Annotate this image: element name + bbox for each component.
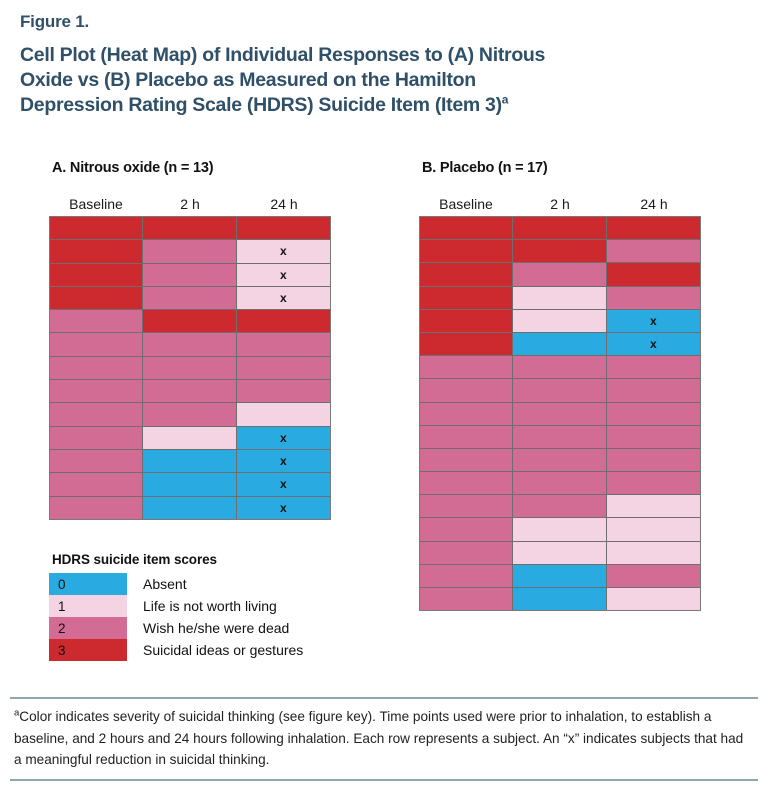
reduction-marker-x: x	[650, 337, 657, 351]
heatmap-cell	[513, 240, 606, 262]
heatmap-cell: x	[607, 310, 700, 332]
column-header-2h: 2 h	[143, 196, 237, 216]
heatmap-cell	[237, 403, 330, 425]
heatmap-cell	[607, 240, 700, 262]
column-header-2h: 2 h	[513, 196, 607, 216]
heatmap-cell	[513, 449, 606, 471]
heatmap-cell	[420, 240, 513, 262]
heatmap-cell	[143, 450, 236, 472]
legend-label: Life is not worth living	[127, 595, 277, 617]
panel-b-column-headers: Baseline 2 h 24 h	[419, 196, 701, 216]
heatmap-cell	[143, 380, 236, 402]
heatmap-cell: x	[237, 497, 330, 519]
heatmap-cell	[143, 357, 236, 379]
heatmap-cell	[607, 426, 700, 448]
heatmap-cell	[420, 449, 513, 471]
heatmap-row	[420, 240, 700, 263]
reduction-marker-x: x	[280, 431, 287, 445]
heatmap-row	[50, 310, 330, 333]
heatmap-cell	[143, 310, 236, 332]
heatmap-cell	[607, 356, 700, 378]
heatmap-grid-placebo: xx	[419, 216, 701, 611]
heatmap-cell	[513, 287, 606, 309]
legend-swatch: 1	[49, 595, 127, 617]
heatmap-cell	[420, 403, 513, 425]
heatmap-row: x	[50, 497, 330, 519]
heatmap-cell	[420, 426, 513, 448]
heatmap-cell	[607, 217, 700, 239]
heatmap-cell	[50, 217, 143, 239]
panel-nitrous-oxide: A. Nitrous oxide (n = 13) Baseline 2 h 2…	[49, 160, 331, 520]
heatmap-cell: x	[237, 264, 330, 286]
heatmap-row	[420, 287, 700, 310]
column-header-24h: 24 h	[607, 196, 701, 216]
heatmap-cell	[143, 427, 236, 449]
heatmap-cell	[607, 472, 700, 494]
heatmap-cell	[237, 357, 330, 379]
figure-title: Cell Plot (Heat Map) of Individual Respo…	[20, 43, 740, 118]
heatmap-cell	[607, 565, 700, 587]
heatmap-cell	[237, 310, 330, 332]
reduction-marker-x: x	[280, 291, 287, 305]
figure-title-line-2: Oxide vs (B) Placebo as Measured on the …	[20, 69, 476, 91]
heatmap-row: x	[50, 264, 330, 287]
legend-item: 0Absent	[49, 573, 349, 595]
heatmap-cell	[607, 403, 700, 425]
heatmap-cell	[513, 217, 606, 239]
heatmap-cell	[143, 264, 236, 286]
heatmap-cell	[420, 565, 513, 587]
legend-item: 1Life is not worth living	[49, 595, 349, 617]
heatmap-row: x	[50, 473, 330, 496]
heatmap-row: x	[50, 427, 330, 450]
footnote-divider-top	[10, 697, 758, 699]
heatmap-cell	[50, 450, 143, 472]
heatmap-cell	[143, 217, 236, 239]
heatmap-row	[420, 472, 700, 495]
legend-item: 2Wish he/she were dead	[49, 617, 349, 639]
heatmap-row	[420, 217, 700, 240]
legend-swatch: 0	[49, 573, 127, 595]
heatmap-cell	[420, 263, 513, 285]
figure-title-line-1: Cell Plot (Heat Map) of Individual Respo…	[20, 44, 545, 66]
column-header-baseline: Baseline	[49, 196, 143, 216]
heatmap-row	[420, 495, 700, 518]
legend-label: Absent	[127, 573, 187, 595]
heatmap-row	[50, 217, 330, 240]
heatmap-cell	[420, 217, 513, 239]
legend-title: HDRS suicide item scores	[52, 552, 349, 567]
heatmap-cell	[50, 403, 143, 425]
figure-label: Figure 1.	[20, 12, 89, 32]
heatmap-cell: x	[237, 427, 330, 449]
heatmap-row	[50, 333, 330, 356]
heatmap-cell	[50, 357, 143, 379]
reduction-marker-x: x	[280, 454, 287, 468]
heatmap-grid-nitrous-oxide: xxxxxxx	[49, 216, 331, 520]
legend-label: Wish he/she were dead	[127, 617, 289, 639]
heatmap-row	[420, 565, 700, 588]
heatmap-cell	[50, 264, 143, 286]
heatmap-cell	[513, 588, 606, 610]
panel-a-title: A. Nitrous oxide (n = 13)	[52, 160, 331, 176]
column-header-baseline: Baseline	[419, 196, 513, 216]
heatmap-row	[420, 403, 700, 426]
heatmap-row	[420, 356, 700, 379]
heatmap-row	[50, 403, 330, 426]
heatmap-cell	[607, 379, 700, 401]
reduction-marker-x: x	[280, 268, 287, 282]
footnote-divider-bottom	[10, 779, 758, 781]
heatmap-row	[420, 518, 700, 541]
heatmap-cell: x	[237, 450, 330, 472]
heatmap-cell	[420, 472, 513, 494]
footnote: aColor indicates severity of suicidal th…	[14, 706, 754, 771]
heatmap-row: x	[50, 287, 330, 310]
legend-swatch: 2	[49, 617, 127, 639]
heatmap-cell	[143, 403, 236, 425]
heatmap-cell	[513, 426, 606, 448]
heatmap-cell	[237, 333, 330, 355]
heatmap-cell	[513, 542, 606, 564]
reduction-marker-x: x	[280, 244, 287, 258]
heatmap-row	[50, 357, 330, 380]
heatmap-cell	[607, 588, 700, 610]
heatmap-cell: x	[607, 333, 700, 355]
heatmap-row	[420, 588, 700, 610]
heatmap-cell	[513, 472, 606, 494]
heatmap-cell	[143, 287, 236, 309]
heatmap-cell	[513, 518, 606, 540]
heatmap-cell	[513, 263, 606, 285]
heatmap-cell	[513, 333, 606, 355]
heatmap-cell	[420, 356, 513, 378]
heatmap-row: x	[50, 450, 330, 473]
reduction-marker-x: x	[650, 314, 657, 328]
heatmap-cell	[513, 403, 606, 425]
legend-swatch: 3	[49, 639, 127, 661]
heatmap-cell	[420, 333, 513, 355]
heatmap-cell	[237, 380, 330, 402]
panel-b-title: B. Placebo (n = 17)	[422, 160, 701, 176]
panel-placebo: B. Placebo (n = 17) Baseline 2 h 24 h xx	[419, 160, 701, 611]
heatmap-row	[420, 542, 700, 565]
heatmap-cell	[143, 240, 236, 262]
figure-title-footnote-marker: a	[502, 93, 508, 107]
heatmap-cell	[50, 310, 143, 332]
heatmap-cell: x	[237, 473, 330, 495]
legend-label: Suicidal ideas or gestures	[127, 639, 303, 661]
heatmap-row: x	[420, 333, 700, 356]
heatmap-cell	[50, 287, 143, 309]
heatmap-cell	[607, 287, 700, 309]
heatmap-row: x	[420, 310, 700, 333]
heatmap-cell	[607, 449, 700, 471]
heatmap-cell	[513, 356, 606, 378]
reduction-marker-x: x	[280, 477, 287, 491]
heatmap-cell	[420, 287, 513, 309]
heatmap-cell	[420, 588, 513, 610]
panel-a-column-headers: Baseline 2 h 24 h	[49, 196, 331, 216]
heatmap-cell	[50, 380, 143, 402]
heatmap-cell	[513, 379, 606, 401]
legend-rows: 0Absent1Life is not worth living2Wish he…	[49, 573, 349, 661]
heatmap-cell	[607, 542, 700, 564]
heatmap-cell	[50, 497, 143, 519]
heatmap-cell	[420, 542, 513, 564]
heatmap-row: x	[50, 240, 330, 263]
heatmap-row	[420, 449, 700, 472]
heatmap-row	[420, 379, 700, 402]
heatmap-cell	[50, 427, 143, 449]
heatmap-cell	[513, 310, 606, 332]
footnote-text: Color indicates severity of suicidal thi…	[14, 709, 743, 767]
heatmap-cell	[50, 473, 143, 495]
heatmap-cell: x	[237, 287, 330, 309]
heatmap-cell	[420, 495, 513, 517]
heatmap-cell	[143, 497, 236, 519]
heatmap-row	[420, 263, 700, 286]
heatmap-cell	[143, 333, 236, 355]
heatmap-cell	[513, 495, 606, 517]
reduction-marker-x: x	[280, 501, 287, 515]
heatmap-row	[50, 380, 330, 403]
column-header-24h: 24 h	[237, 196, 331, 216]
legend: HDRS suicide item scores 0Absent1Life is…	[49, 552, 349, 661]
heatmap-cell	[50, 240, 143, 262]
heatmap-cell	[50, 333, 143, 355]
heatmap-cell	[420, 518, 513, 540]
heatmap-cell	[513, 565, 606, 587]
heatmap-cell	[607, 518, 700, 540]
heatmap-cell	[607, 495, 700, 517]
heatmap-cell	[420, 379, 513, 401]
heatmap-cell	[143, 473, 236, 495]
heatmap-cell	[237, 217, 330, 239]
heatmap-cell: x	[237, 240, 330, 262]
heatmap-row	[420, 426, 700, 449]
heatmap-cell	[420, 310, 513, 332]
heatmap-cell	[607, 263, 700, 285]
legend-item: 3Suicidal ideas or gestures	[49, 639, 349, 661]
figure-title-line-3: Depression Rating Scale (HDRS) Suicide I…	[20, 94, 502, 116]
